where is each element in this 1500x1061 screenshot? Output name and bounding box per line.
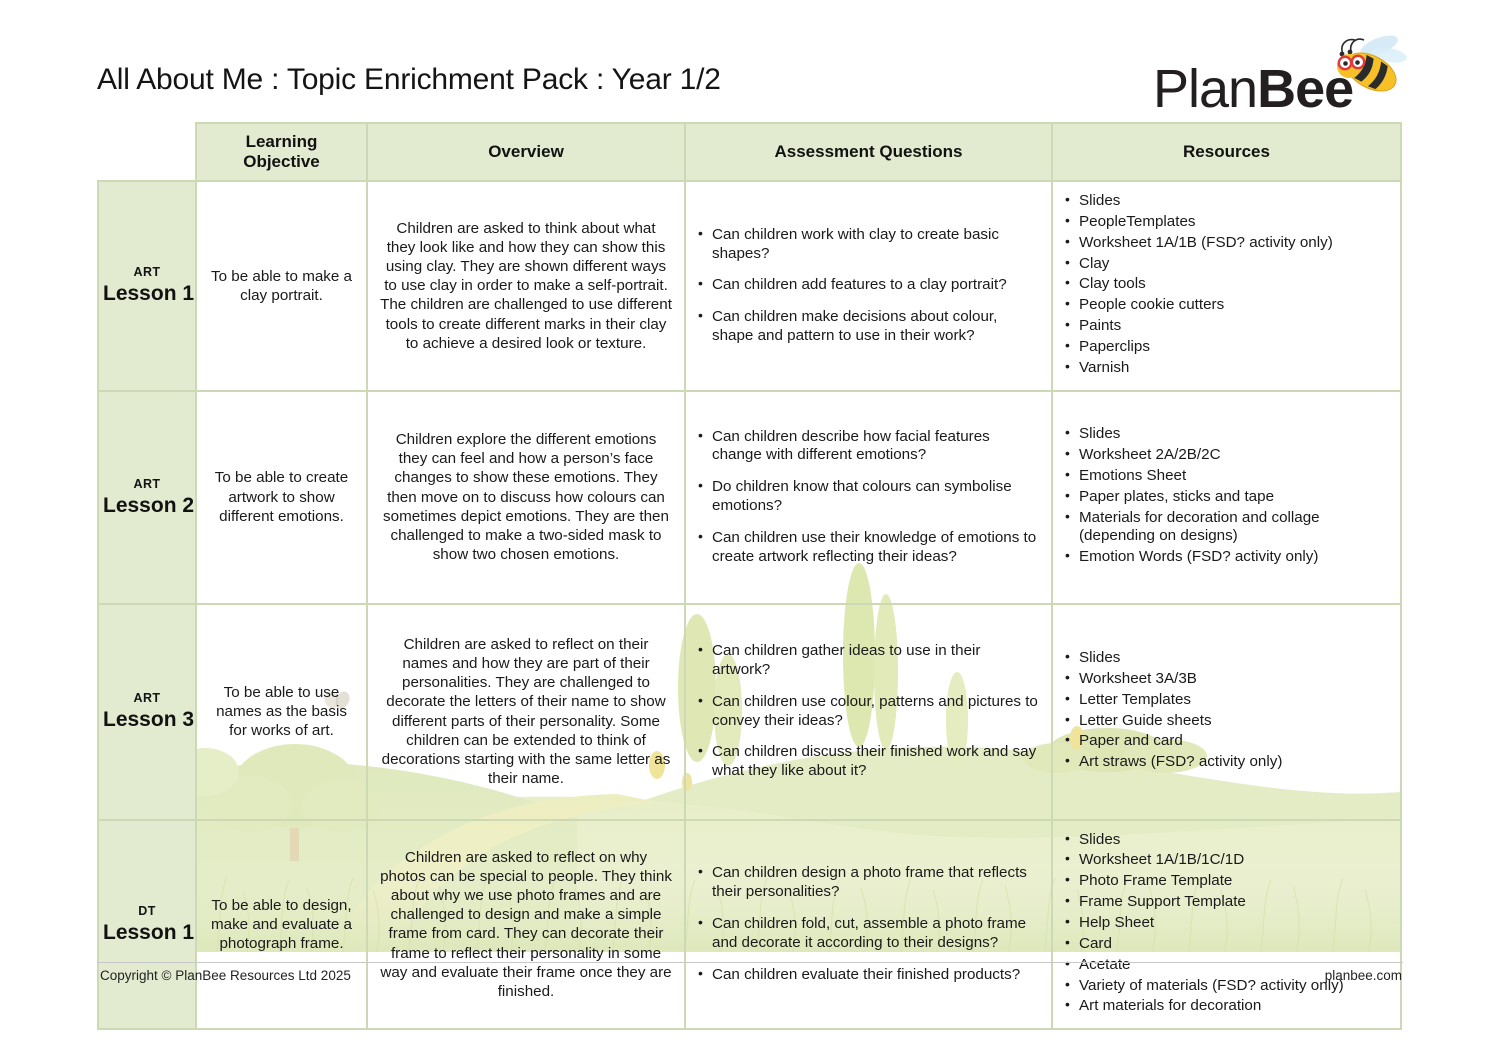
lesson-subject: ART [103,691,191,705]
footer-copyright: Copyright © PlanBee Resources Ltd 2025 [100,968,351,983]
page-title: All About Me : Topic Enrichment Pack : Y… [97,63,721,97]
assessment-question-item: Can children design a photo frame that r… [698,864,1039,902]
resources-list: SlidesWorksheet 3A/3BLetter TemplatesLet… [1065,649,1388,772]
resource-item: Paperclips [1065,338,1388,357]
resource-item: Letter Templates [1065,691,1388,710]
resource-item: Worksheet 3A/3B [1065,670,1388,689]
resources-cell: SlidesPeopleTemplatesWorksheet 1A/1B (FS… [1052,181,1401,391]
column-header-resources: Resources [1052,123,1401,181]
lesson-subject: ART [103,265,191,279]
assessment-question-item: Can children evaluate their finished pro… [698,966,1039,985]
assessment-questions-list: Can children work with clay to create ba… [698,226,1039,346]
overview-cell: Children are asked to reflect on their n… [367,604,685,820]
assessment-questions-list: Can children gather ideas to use in thei… [698,642,1039,781]
overview-cell: Children explore the different emotions … [367,391,685,604]
assessment-questions-cell: Can children describe how facial feature… [685,391,1052,604]
table-header: Learning Objective Overview Assessment Q… [98,123,1401,181]
resource-item: Help Sheet [1065,914,1388,933]
resource-item: Slides [1065,649,1388,668]
assessment-question-item: Can children add features to a clay port… [698,276,1039,295]
resource-item: People cookie cutters [1065,296,1388,315]
resources-list: SlidesPeopleTemplatesWorksheet 1A/1B (FS… [1065,192,1388,378]
column-header-learning-objective: Learning Objective [196,123,367,181]
column-header-lo-line1: Learning [246,132,318,151]
assessment-question-item: Can children fold, cut, assemble a photo… [698,915,1039,953]
column-header-overview: Overview [367,123,685,181]
resource-item: Frame Support Template [1065,893,1388,912]
footer-divider [97,962,1403,963]
resource-item: Materials for decoration and collage (de… [1065,509,1388,547]
assessment-question-item: Can children describe how facial feature… [698,428,1039,466]
bee-icon [1321,32,1411,102]
resource-item: Card [1065,935,1388,954]
lesson-number: Lesson 1 [103,282,191,306]
resource-item: Clay [1065,255,1388,274]
assessment-questions-cell: Can children design a photo frame that r… [685,820,1052,1030]
lesson-label-cell: ARTLesson 1 [98,181,196,391]
resource-item: Emotions Sheet [1065,467,1388,486]
assessment-question-item: Can children make decisions about colour… [698,308,1039,346]
resource-item: Paints [1065,317,1388,336]
overview-cell: Children are asked to reflect on why pho… [367,820,685,1030]
resource-item: Paper plates, sticks and tape [1065,488,1388,507]
document-page: All About Me : Topic Enrichment Pack : Y… [0,0,1500,1061]
lesson-label-cell: ARTLesson 3 [98,604,196,820]
resource-item: PeopleTemplates [1065,213,1388,232]
overview-cell: Children are asked to think about what t… [367,181,685,391]
resource-item: Paper and card [1065,732,1388,751]
resource-item: Worksheet 2A/2B/2C [1065,446,1388,465]
resources-cell: SlidesWorksheet 1A/1B/1C/1DPhoto Frame T… [1052,820,1401,1030]
learning-objective-cell: To be able to use names as the basis for… [196,604,367,820]
learning-objective-cell: To be able to create artwork to show dif… [196,391,367,604]
resource-item: Slides [1065,425,1388,444]
assessment-question-item: Can children use colour, patterns and pi… [698,693,1039,731]
lesson-overview-table: Learning Objective Overview Assessment Q… [97,122,1400,1030]
table-row: ARTLesson 1To be able to make a clay por… [98,181,1401,391]
table-row: ARTLesson 3To be able to use names as th… [98,604,1401,820]
assessment-question-item: Can children discuss their finished work… [698,743,1039,781]
table-row: ARTLesson 2To be able to create artwork … [98,391,1401,604]
resources-cell: SlidesWorksheet 3A/3BLetter TemplatesLet… [1052,604,1401,820]
resource-item: Slides [1065,831,1388,850]
resources-list: SlidesWorksheet 2A/2B/2CEmotions SheetPa… [1065,425,1388,567]
resource-item: Worksheet 1A/1B/1C/1D [1065,851,1388,870]
assessment-questions-cell: Can children work with clay to create ba… [685,181,1052,391]
learning-objective-cell: To be able to design, make and evaluate … [196,820,367,1030]
resource-item: Emotion Words (FSD? activity only) [1065,548,1388,567]
resource-item: Art materials for decoration [1065,997,1388,1016]
table-header-row: Learning Objective Overview Assessment Q… [98,123,1401,181]
assessment-questions-list: Can children design a photo frame that r… [698,864,1039,984]
assessment-question-item: Do children know that colours can symbol… [698,478,1039,516]
lesson-number: Lesson 2 [103,494,191,518]
planbee-logo: PlanBee [1153,32,1403,124]
lesson-subject: DT [103,904,191,918]
table-row: DTLesson 1To be able to design, make and… [98,820,1401,1030]
footer-website: planbee.com [1325,968,1402,983]
logo-word-plan: Plan [1153,59,1257,119]
lesson-label-cell: ARTLesson 2 [98,391,196,604]
assessment-questions-list: Can children describe how facial feature… [698,428,1039,567]
table-body: ARTLesson 1To be able to make a clay por… [98,181,1401,1029]
resource-item: Art straws (FSD? activity only) [1065,753,1388,772]
resource-item: Varnish [1065,359,1388,378]
lesson-label-cell: DTLesson 1 [98,820,196,1030]
assessment-questions-cell: Can children gather ideas to use in thei… [685,604,1052,820]
resources-cell: SlidesWorksheet 2A/2B/2CEmotions SheetPa… [1052,391,1401,604]
resources-list: SlidesWorksheet 1A/1B/1C/1DPhoto Frame T… [1065,831,1388,1017]
resource-item: Letter Guide sheets [1065,712,1388,731]
resource-item: Clay tools [1065,275,1388,294]
column-header-lo-line2: Objective [243,152,320,171]
resource-item: Slides [1065,192,1388,211]
learning-objective-cell: To be able to make a clay portrait. [196,181,367,391]
assessment-question-item: Can children work with clay to create ba… [698,226,1039,264]
column-header-assessment-questions: Assessment Questions [685,123,1052,181]
lesson-number: Lesson 3 [103,708,191,732]
lessons-table: Learning Objective Overview Assessment Q… [97,122,1402,1030]
assessment-question-item: Can children use their knowledge of emot… [698,529,1039,567]
resource-item: Photo Frame Template [1065,872,1388,891]
resource-item: Worksheet 1A/1B (FSD? activity only) [1065,234,1388,253]
lesson-subject: ART [103,477,191,491]
column-header-lesson [98,123,196,181]
assessment-question-item: Can children gather ideas to use in thei… [698,642,1039,680]
lesson-number: Lesson 1 [103,921,191,945]
